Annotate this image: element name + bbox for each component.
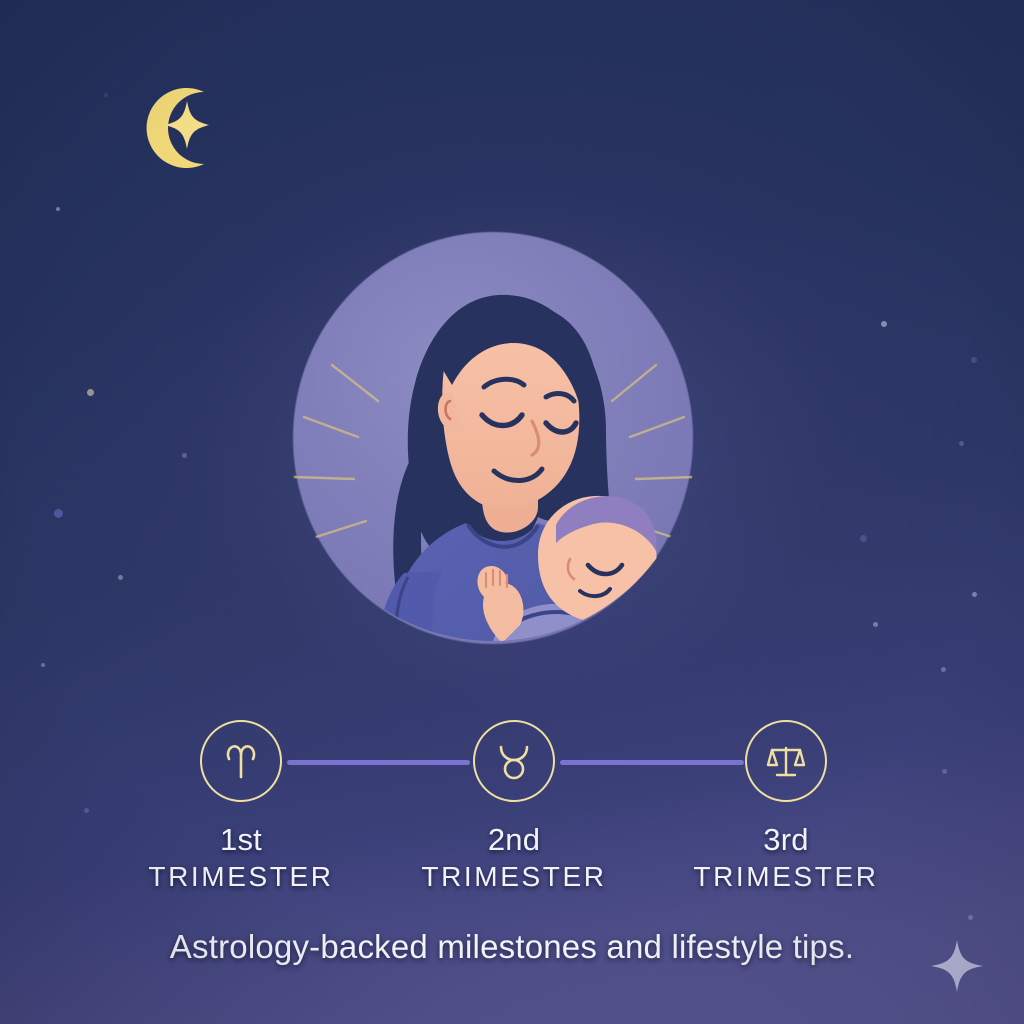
star-dot [968,915,973,920]
star-dot [104,93,108,97]
astrology-pregnancy-poster: 1st TRIMESTER 2nd TRIMESTER 3rd TRIMESTE… [0,0,1024,1024]
poster-caption: Astrology-backed milestones and lifestyl… [0,928,1024,966]
mother-holding-baby-illustration [270,225,730,725]
star-dot [41,663,45,667]
star-dot [87,389,94,396]
trimester-label-2: 2nd TRIMESTER [364,822,664,896]
trimester-ordinal: 1st [91,822,391,858]
star-dot [56,207,60,211]
star-dot [873,622,878,627]
star-dot [118,575,123,580]
timeline-connector-1 [287,760,470,765]
libra-scales-zodiac-icon[interactable] [745,720,827,802]
trimester-label-1: 1st TRIMESTER [91,822,391,896]
star-dot [971,357,977,363]
trimester-ordinal: 3rd [636,822,936,858]
trimester-word: TRIMESTER [91,858,391,896]
star-dot [54,509,63,518]
trimester-labels: 1st TRIMESTER 2nd TRIMESTER 3rd TRIMESTE… [0,822,1024,904]
star-dot [941,667,946,672]
trimester-timeline [0,700,1024,830]
trimester-label-3: 3rd TRIMESTER [636,822,936,896]
star-dot [860,535,867,542]
trimester-word: TRIMESTER [636,858,936,896]
taurus-zodiac-icon[interactable] [473,720,555,802]
aries-zodiac-icon[interactable] [200,720,282,802]
trimester-ordinal: 2nd [364,822,664,858]
trimester-word: TRIMESTER [364,858,664,896]
timeline-connector-2 [560,760,744,765]
star-dot [972,592,977,597]
star-dot [182,453,187,458]
four-point-sparkle-icon [929,938,985,994]
star-dot [881,321,887,327]
crescent-moon-icon [132,76,236,180]
star-dot [959,441,964,446]
